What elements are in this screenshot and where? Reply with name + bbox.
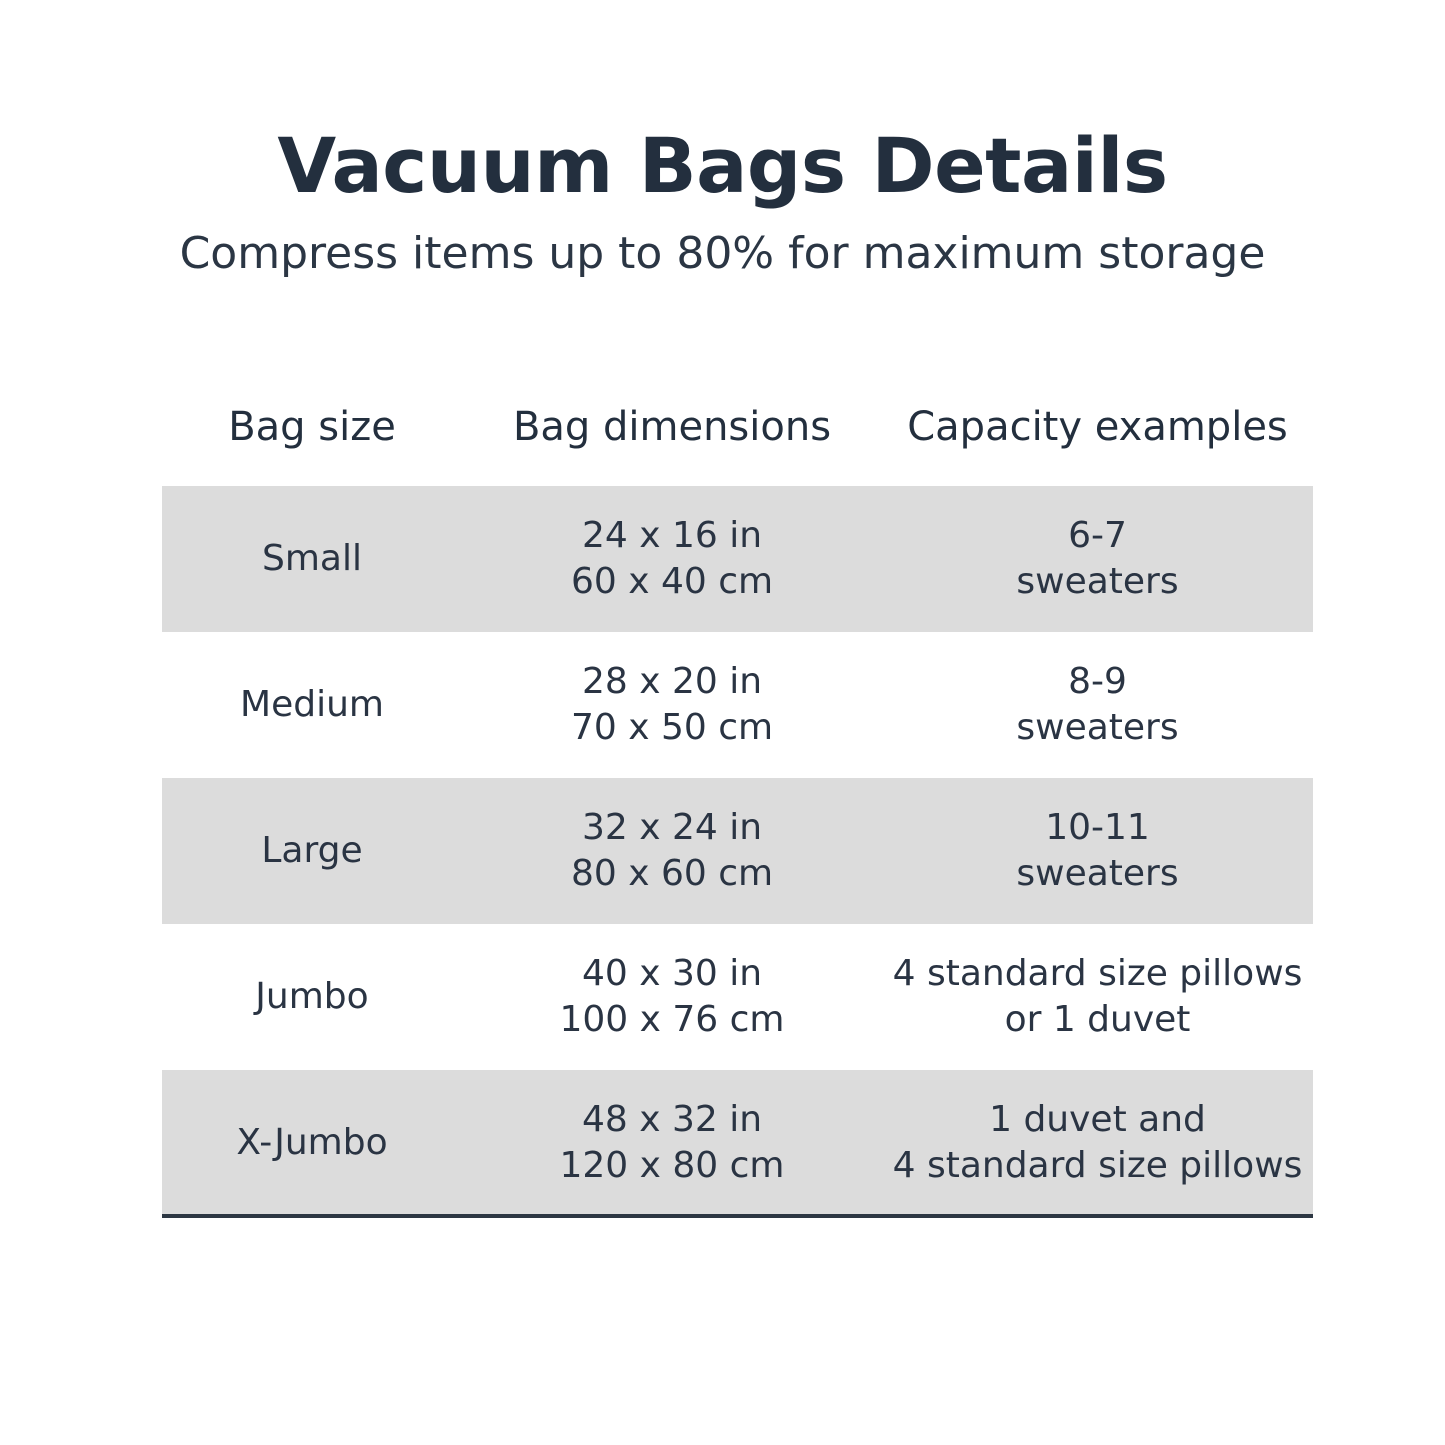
vacuum-bags-spec-table: Bag size Bag dimensions Capacity example… (162, 404, 1313, 1216)
dimension-imperial: 40 x 30 in (468, 951, 876, 997)
capacity-line-1: 8-9 (888, 659, 1307, 705)
dimension-metric: 120 x 80 cm (468, 1143, 876, 1189)
dimension-imperial: 32 x 24 in (468, 805, 876, 851)
dimension-imperial: 28 x 20 in (468, 659, 876, 705)
cell-bag-dimensions: 28 x 20 in 70 x 50 cm (462, 632, 882, 778)
dimension-metric: 70 x 50 cm (468, 705, 876, 751)
capacity-line-2: sweaters (888, 851, 1307, 897)
column-header-capacity-examples: Capacity examples (882, 404, 1313, 486)
table-row: Small 24 x 16 in 60 x 40 cm 6-7 sweaters (162, 486, 1313, 632)
dimension-metric: 80 x 60 cm (468, 851, 876, 897)
cell-bag-size: X-Jumbo (162, 1070, 462, 1216)
cell-bag-dimensions: 48 x 32 in 120 x 80 cm (462, 1070, 882, 1216)
dimension-imperial: 24 x 16 in (468, 513, 876, 559)
dimension-metric: 60 x 40 cm (468, 559, 876, 605)
header-block: Vacuum Bags Details Compress items up to… (0, 128, 1445, 276)
table-row: Jumbo 40 x 30 in 100 x 76 cm 4 standard … (162, 924, 1313, 1070)
cell-bag-size: Medium (162, 632, 462, 778)
dimension-metric: 100 x 76 cm (468, 997, 876, 1043)
cell-capacity-examples: 4 standard size pillows or 1 duvet (882, 924, 1313, 1070)
capacity-line-1: 1 duvet and (888, 1097, 1307, 1143)
capacity-line-1: 6-7 (888, 513, 1307, 559)
capacity-line-2: sweaters (888, 559, 1307, 605)
table-row: X-Jumbo 48 x 32 in 120 x 80 cm 1 duvet a… (162, 1070, 1313, 1216)
capacity-line-1: 10-11 (888, 805, 1307, 851)
table-bottom-rule (162, 1214, 1313, 1218)
table-body: Small 24 x 16 in 60 x 40 cm 6-7 sweaters… (162, 486, 1313, 1216)
column-header-bag-size: Bag size (162, 404, 462, 486)
page-subtitle: Compress items up to 80% for maximum sto… (0, 204, 1445, 276)
capacity-line-2: or 1 duvet (888, 997, 1307, 1043)
capacity-line-2: sweaters (888, 705, 1307, 751)
column-header-bag-dimensions: Bag dimensions (462, 404, 882, 486)
cell-bag-size: Jumbo (162, 924, 462, 1070)
cell-capacity-examples: 1 duvet and 4 standard size pillows (882, 1070, 1313, 1216)
cell-bag-dimensions: 24 x 16 in 60 x 40 cm (462, 486, 882, 632)
dimension-imperial: 48 x 32 in (468, 1097, 876, 1143)
cell-bag-size: Large (162, 778, 462, 924)
cell-bag-size: Small (162, 486, 462, 632)
table-header: Bag size Bag dimensions Capacity example… (162, 404, 1313, 486)
cell-capacity-examples: 8-9 sweaters (882, 632, 1313, 778)
capacity-line-1: 4 standard size pillows (888, 951, 1307, 997)
page-title: Vacuum Bags Details (0, 128, 1445, 204)
product-spec-infographic: Vacuum Bags Details Compress items up to… (0, 0, 1445, 1445)
cell-capacity-examples: 10-11 sweaters (882, 778, 1313, 924)
table-row: Medium 28 x 20 in 70 x 50 cm 8-9 sweater… (162, 632, 1313, 778)
table-row: Large 32 x 24 in 80 x 60 cm 10-11 sweate… (162, 778, 1313, 924)
capacity-line-2: 4 standard size pillows (888, 1143, 1307, 1189)
table-header-row: Bag size Bag dimensions Capacity example… (162, 404, 1313, 486)
cell-bag-dimensions: 40 x 30 in 100 x 76 cm (462, 924, 882, 1070)
cell-capacity-examples: 6-7 sweaters (882, 486, 1313, 632)
cell-bag-dimensions: 32 x 24 in 80 x 60 cm (462, 778, 882, 924)
